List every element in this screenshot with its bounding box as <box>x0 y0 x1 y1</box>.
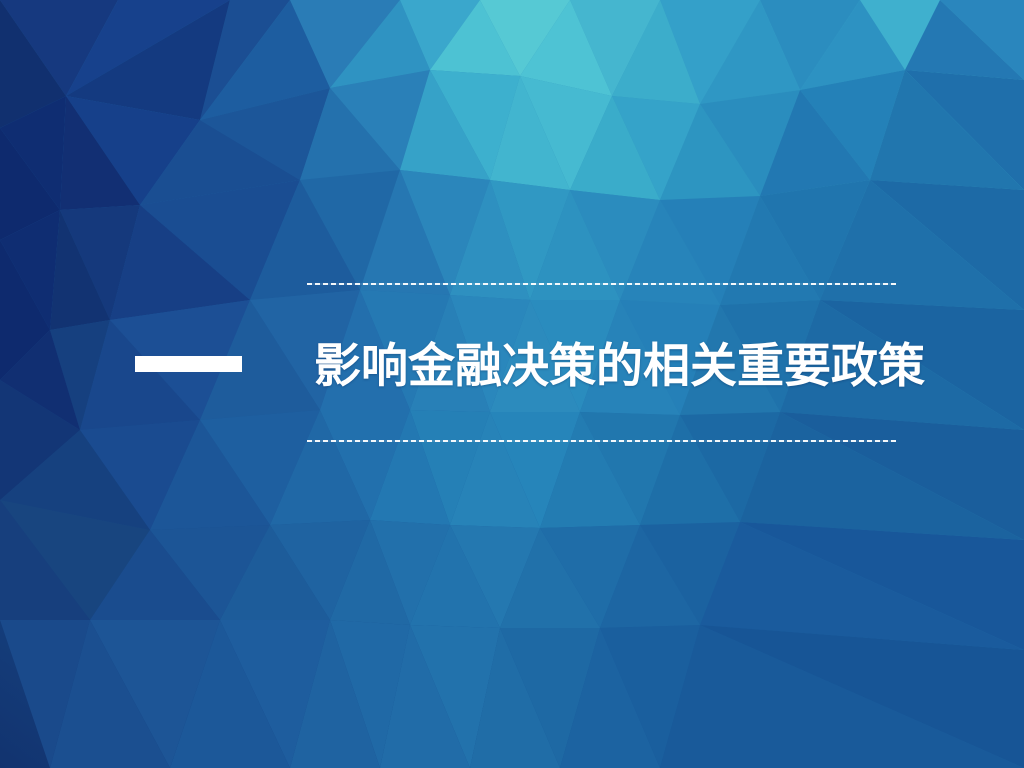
presentation-slide: 影响金融决策的相关重要政策 <box>0 0 1024 768</box>
low-poly-background <box>0 0 1024 768</box>
polygon-group <box>0 0 1024 768</box>
